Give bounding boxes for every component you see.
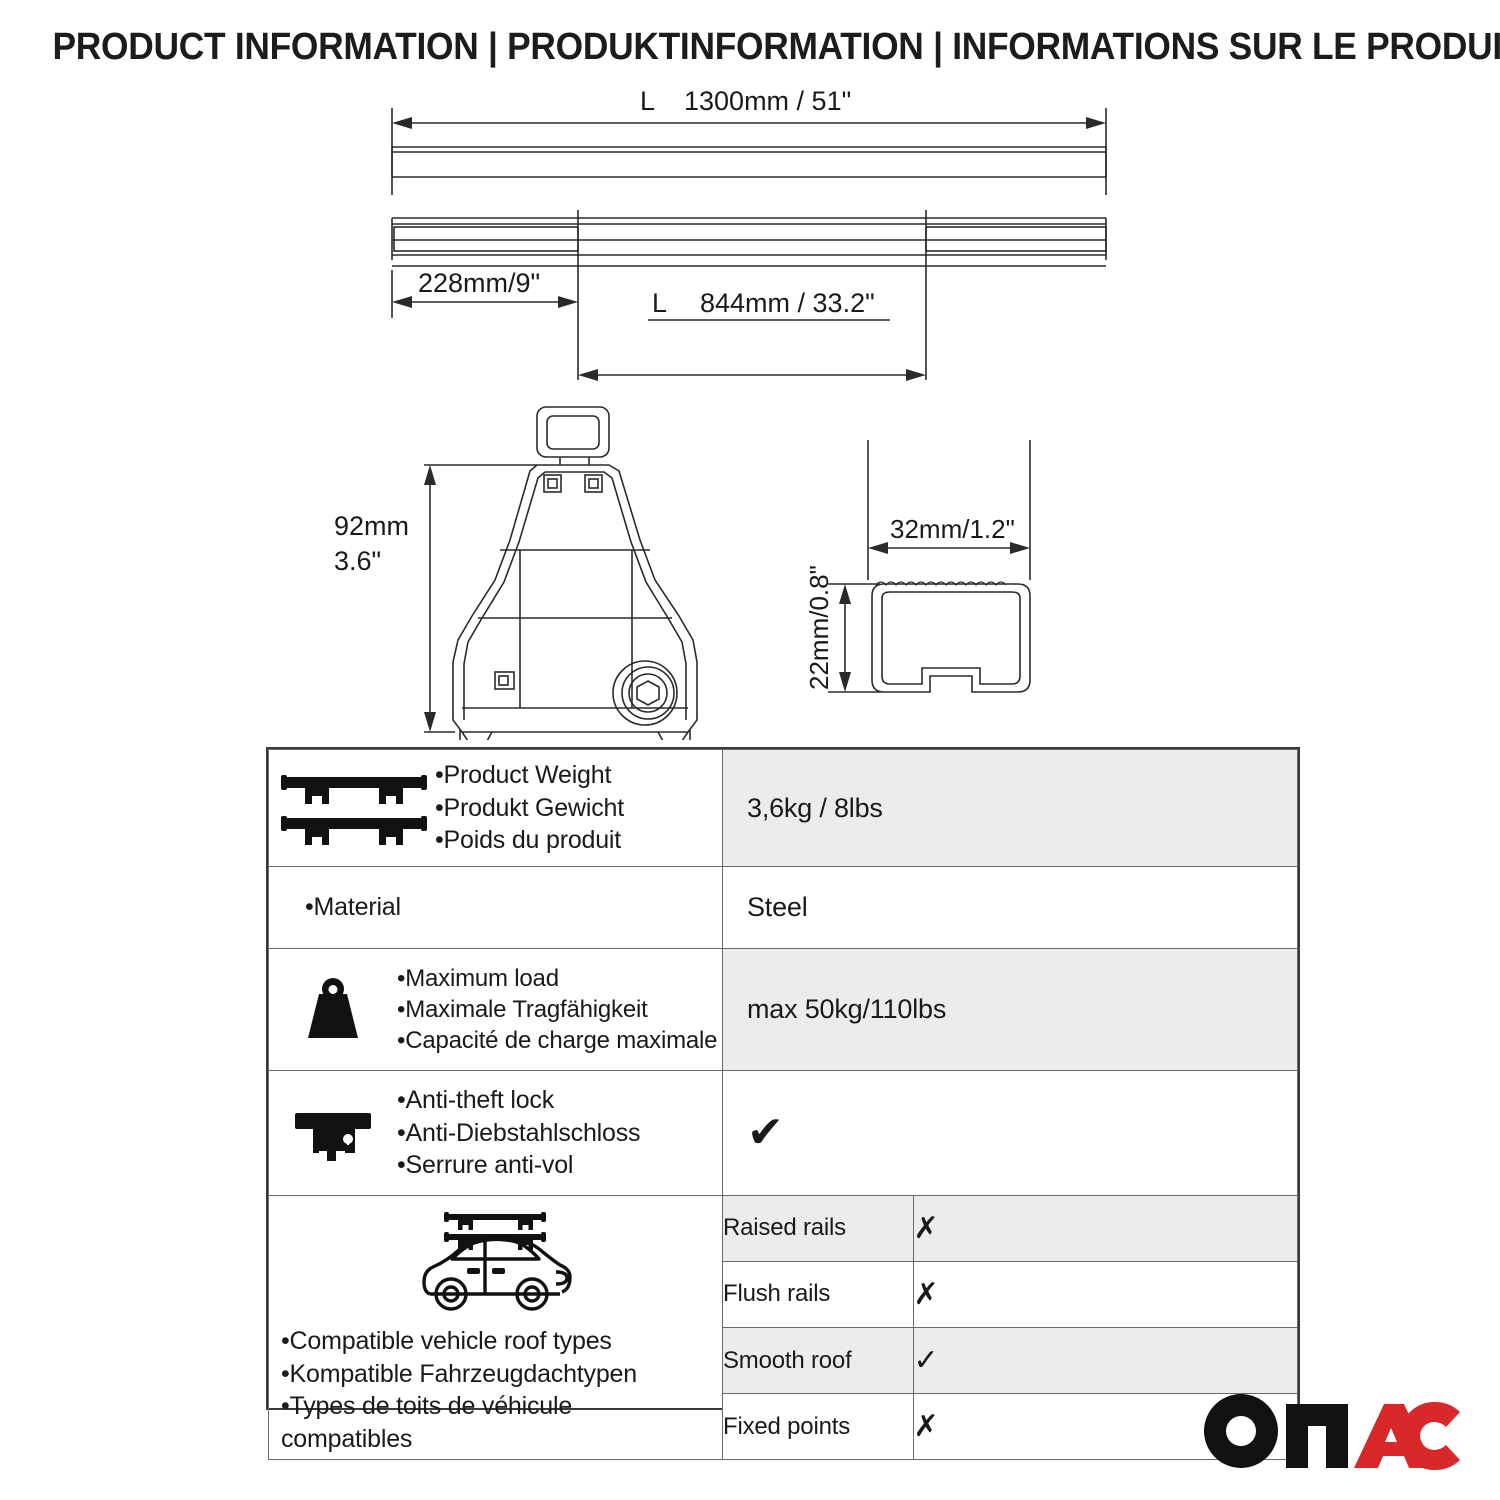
spread-value: 844mm / 33.2" [700, 288, 875, 318]
label-line-de: •Maximale Tragfähigkeit [397, 994, 717, 1025]
row-label-lines: •Maximum load •Maximale Tragfähigkeit •C… [397, 963, 717, 1057]
label-line-en: •Material [305, 891, 401, 924]
bar-length-value: 1300mm / 51" [684, 86, 851, 116]
label-line-en: •Maximum load [397, 963, 717, 994]
roof-type-row: Flush rails ✗ [723, 1261, 1297, 1327]
row-label-product-weight: •Product Weight •Produkt Gewicht •Poids … [269, 750, 723, 867]
roof-type-name: Smooth roof [723, 1327, 913, 1393]
table-row: •Material Steel [269, 867, 1298, 949]
weight-icon [275, 974, 391, 1046]
foot-height-line1: 92mm [334, 511, 409, 541]
roof-label-lines: •Compatible vehicle roof types •Kompatib… [269, 1325, 637, 1455]
roof-type-row: Smooth roof ✓ [723, 1327, 1297, 1393]
cross-icon: ✗ [913, 1261, 1297, 1327]
page-title: PRODUCT INFORMATION | PRODUKTINFORMATION… [53, 26, 1448, 69]
profile-width-value: 32mm/1.2" [890, 514, 1015, 544]
checkmark-icon: ✔ [723, 1111, 1297, 1155]
row-label-lines: •Anti-theft lock •Anti-Diebstahlschloss … [397, 1084, 640, 1182]
table-row: •Maximum load •Maximale Tragfähigkeit •C… [269, 949, 1298, 1071]
cross-icon: ✗ [913, 1196, 1297, 1261]
row-value-maximum-load: max 50kg/110lbs [723, 949, 1298, 1071]
logo-letter-m [1286, 1404, 1348, 1468]
label-line-en: •Compatible vehicle roof types [281, 1325, 637, 1358]
label-line-fr: •Types de toits de véhicule [281, 1390, 637, 1423]
profile-height-value: 22mm/0.8" [804, 565, 834, 690]
row-label-maximum-load: •Maximum load •Maximale Tragfähigkeit •C… [269, 949, 723, 1071]
row-value-anti-theft-lock: ✔ [723, 1071, 1298, 1196]
foot-height-line2: 3.6" [334, 546, 381, 576]
label-line-fr-cont: compatibles [281, 1423, 637, 1456]
technical-drawing: L 1300mm / 51" 228mm/9" L 844mm / 33.2" … [0, 80, 1500, 740]
row-label-material: •Material [269, 867, 723, 949]
row-label-roof-types: •Compatible vehicle roof types •Kompatib… [269, 1196, 723, 1460]
roof-type-row: Raised rails ✗ [723, 1196, 1297, 1261]
label-line-de: •Kompatible Fahrzeugdachtypen [281, 1358, 637, 1391]
logo-letter-o [1204, 1394, 1278, 1468]
table-row: •Product Weight •Produkt Gewicht •Poids … [269, 750, 1298, 867]
roof-type-name: Raised rails [723, 1196, 913, 1261]
roof-type-name: Flush rails [723, 1261, 913, 1327]
lock-icon [275, 1105, 391, 1161]
row-label-lines: •Material [305, 891, 401, 924]
bar-length-prefix: L [640, 86, 655, 116]
table-row: •Compatible vehicle roof types •Kompatib… [269, 1196, 1298, 1460]
two-crossbars-icon [279, 769, 429, 847]
omac-logo [1202, 1392, 1462, 1470]
label-line-en: •Product Weight [435, 759, 624, 792]
value-text: 3,6kg / 8lbs [723, 793, 1297, 824]
checkmark-icon: ✓ [913, 1327, 1297, 1393]
value-text: Steel [723, 892, 1297, 923]
table-row: •Anti-theft lock •Anti-Diebstahlschloss … [269, 1071, 1298, 1196]
label-line-fr: •Capacité de charge maximale [397, 1025, 717, 1056]
row-label-lines: •Product Weight •Produkt Gewicht •Poids … [435, 759, 624, 857]
specification-table: •Product Weight •Produkt Gewicht •Poids … [266, 747, 1300, 1410]
label-line-fr: •Serrure anti-vol [397, 1149, 640, 1182]
label-line-en: •Anti-theft lock [397, 1084, 640, 1117]
roof-type-name: Fixed points [723, 1394, 913, 1459]
label-line-fr: •Poids du produit [435, 824, 624, 857]
product-information-sheet: PRODUCT INFORMATION | PRODUKTINFORMATION… [0, 0, 1500, 1500]
row-value-material: Steel [723, 867, 1298, 949]
row-label-anti-theft-lock: •Anti-theft lock •Anti-Diebstahlschloss … [269, 1071, 723, 1196]
label-line-de: •Anti-Diebstahlschloss [397, 1117, 640, 1150]
spread-prefix: L [652, 288, 667, 318]
car-with-crossbars-icon [408, 1206, 584, 1319]
row-value-product-weight: 3,6kg / 8lbs [723, 750, 1298, 867]
label-line-de: •Produkt Gewicht [435, 792, 624, 825]
value-text: max 50kg/110lbs [723, 994, 1297, 1025]
foot-offset-value: 228mm/9" [418, 268, 540, 298]
